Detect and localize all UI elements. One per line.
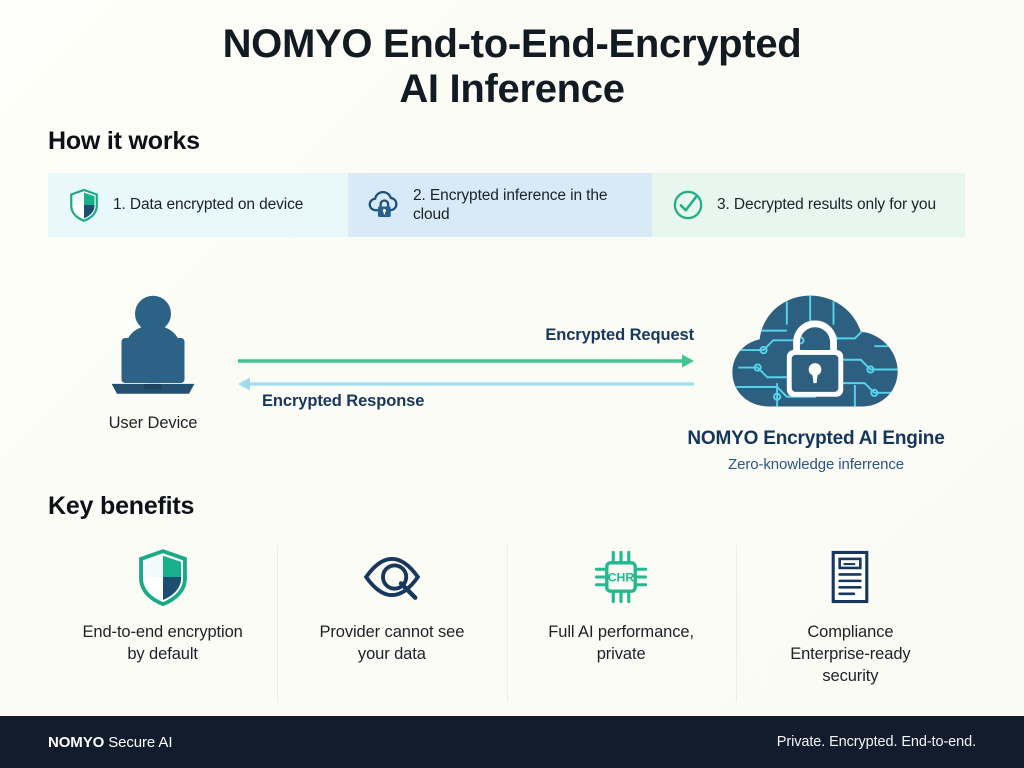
benefit-item-1: End-to-end encryption by default: [48, 540, 277, 702]
benefit-label-1: End-to-end encryption by default: [78, 622, 248, 666]
footer-brand: NOMYO Secure AI: [48, 734, 172, 751]
how-it-works-heading: How it works: [48, 127, 200, 156]
flow-arrows: Encrypted Request Encrypted Response: [238, 306, 694, 416]
benefit-item-2: Provider cannot see your data: [277, 540, 506, 702]
step-label-3: 3. Decrypted results only for you: [717, 195, 936, 214]
infographic-page: NOMYO End-to-End-Encrypted AI Inference …: [0, 0, 1024, 768]
benefit-label-2: Provider cannot see your data: [307, 622, 477, 666]
step-label-1: 1. Data encrypted on device: [113, 195, 303, 214]
document-certificate-icon: [819, 546, 881, 608]
shield-icon: [132, 546, 194, 608]
cloud-engine-subtitle: Zero-knowledge inferrence: [683, 456, 949, 473]
benefit-item-3: CHR Full AI performance, private: [507, 540, 736, 702]
cpu-chip-icon: CHR: [590, 546, 652, 608]
cloud-circuit-lock-icon: [718, 282, 914, 422]
footer-brand-suffix: Secure AI: [108, 734, 172, 751]
page-title: NOMYO End-to-End-Encrypted AI Inference: [0, 22, 1024, 112]
step-item-1: 1. Data encrypted on device: [48, 173, 348, 237]
footer-tagline: Private. Encrypted. End-to-end.: [777, 734, 976, 750]
flow-node-cloud-engine: NOMYO Encrypted AI Engine Zero-knowledge…: [683, 282, 949, 473]
key-benefits-list: End-to-end encryption by default Provide…: [48, 540, 965, 702]
user-laptop-icon: [99, 288, 207, 406]
benefit-item-4: Compliance Enterprise-ready security: [736, 540, 965, 702]
flow-node-user-device: User Device: [88, 288, 218, 433]
arrow-pair-icon: [238, 352, 694, 394]
step-item-2: 2. Encrypted inference in the cloud: [348, 173, 652, 237]
encrypted-request-label: Encrypted Request: [545, 326, 694, 345]
benefit-label-3: Full AI performance, private: [536, 622, 706, 666]
flow-diagram: User Device Encrypted Request Encrypted …: [0, 278, 1024, 478]
eye-slash-icon: [361, 546, 423, 608]
user-device-caption: User Device: [88, 414, 218, 433]
key-benefits-heading: Key benefits: [48, 492, 194, 521]
cloud-engine-title: NOMYO Encrypted AI Engine: [683, 428, 949, 450]
shield-icon: [66, 187, 102, 223]
page-title-line-1: NOMYO End-to-End-Encrypted: [70, 22, 954, 67]
footer-brand-name: NOMYO: [48, 734, 104, 751]
check-circle-icon: [670, 187, 706, 223]
encrypted-response-label: Encrypted Response: [262, 392, 424, 411]
cpu-chip-label: CHR: [608, 571, 635, 585]
step-label-2: 2. Encrypted inference in the cloud: [413, 186, 638, 225]
step-item-3: 3. Decrypted results only for you: [652, 173, 965, 237]
page-title-line-2: AI Inference: [70, 67, 954, 112]
footer-bar: NOMYO Secure AI Private. Encrypted. End-…: [0, 716, 1024, 768]
how-it-works-steps: 1. Data encrypted on device 2. Encrypted…: [48, 173, 965, 237]
cloud-lock-icon: [366, 187, 402, 223]
benefit-label-4: Compliance Enterprise-ready security: [765, 622, 935, 688]
